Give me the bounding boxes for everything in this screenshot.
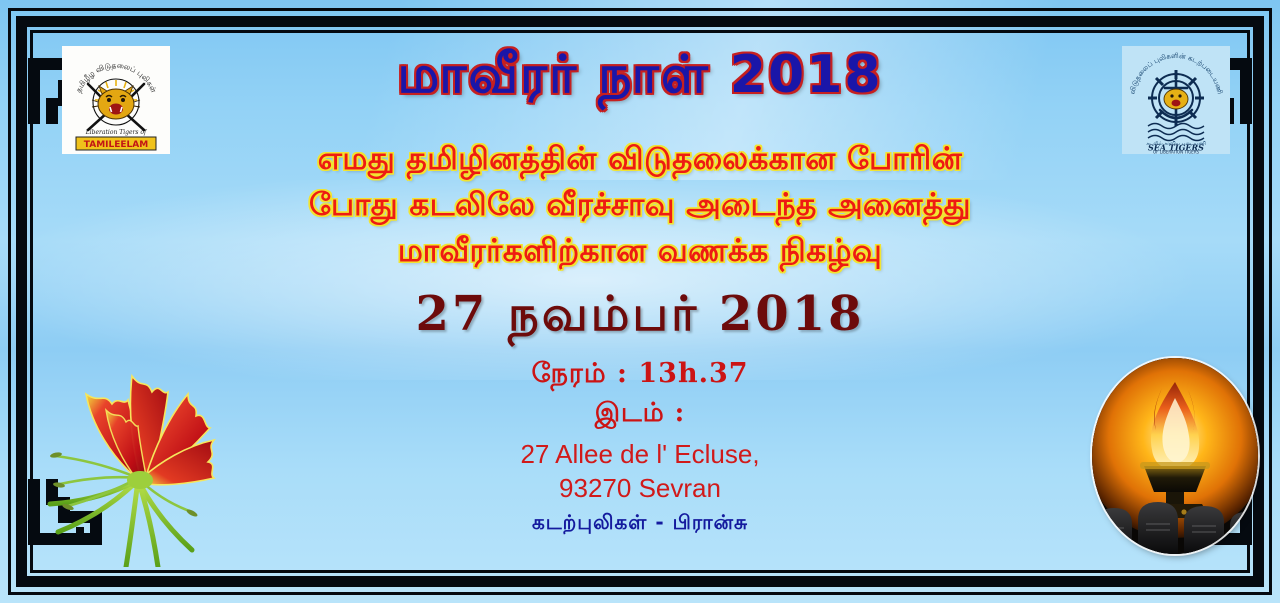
memorial-day-poster: தமிழீழ விடுதலைப் புலிகள் — [0, 0, 1280, 603]
subtitle-line-3: மாவீரர்களிற்கான வணக்க நிகழ்வு — [0, 228, 1280, 274]
event-date: 27 நவம்பர் 2018 — [0, 286, 1280, 348]
subtitle-block: எமது தமிழினத்தின் விடுதலைக்கான போரின் போ… — [0, 136, 1280, 274]
emblem-script-text: Liberation Tigers of — [85, 129, 148, 136]
memorial-flame-image — [1092, 358, 1258, 554]
subtitle-line-1: எமது தமிழினத்தின் விடுதலைக்கான போரின் — [0, 136, 1280, 182]
frame-inner-bottom — [30, 570, 1250, 573]
frame-inner-top — [30, 30, 1250, 33]
frame-band-top — [16, 16, 1264, 27]
flower-petals — [86, 376, 214, 485]
flower-center — [127, 471, 153, 489]
gloriosa-lily-flowers-image — [42, 352, 252, 567]
flower-stems — [50, 480, 192, 567]
frame-outer-top — [8, 8, 1272, 11]
frame-band-bottom — [16, 576, 1264, 587]
page-title: மாவீரர் நாள் 2018 — [0, 48, 1280, 103]
subtitle-line-2: போது கடலிலே வீரச்சாவு அடைந்த அனைத்து — [0, 182, 1280, 228]
frame-outer-bottom — [8, 592, 1272, 595]
